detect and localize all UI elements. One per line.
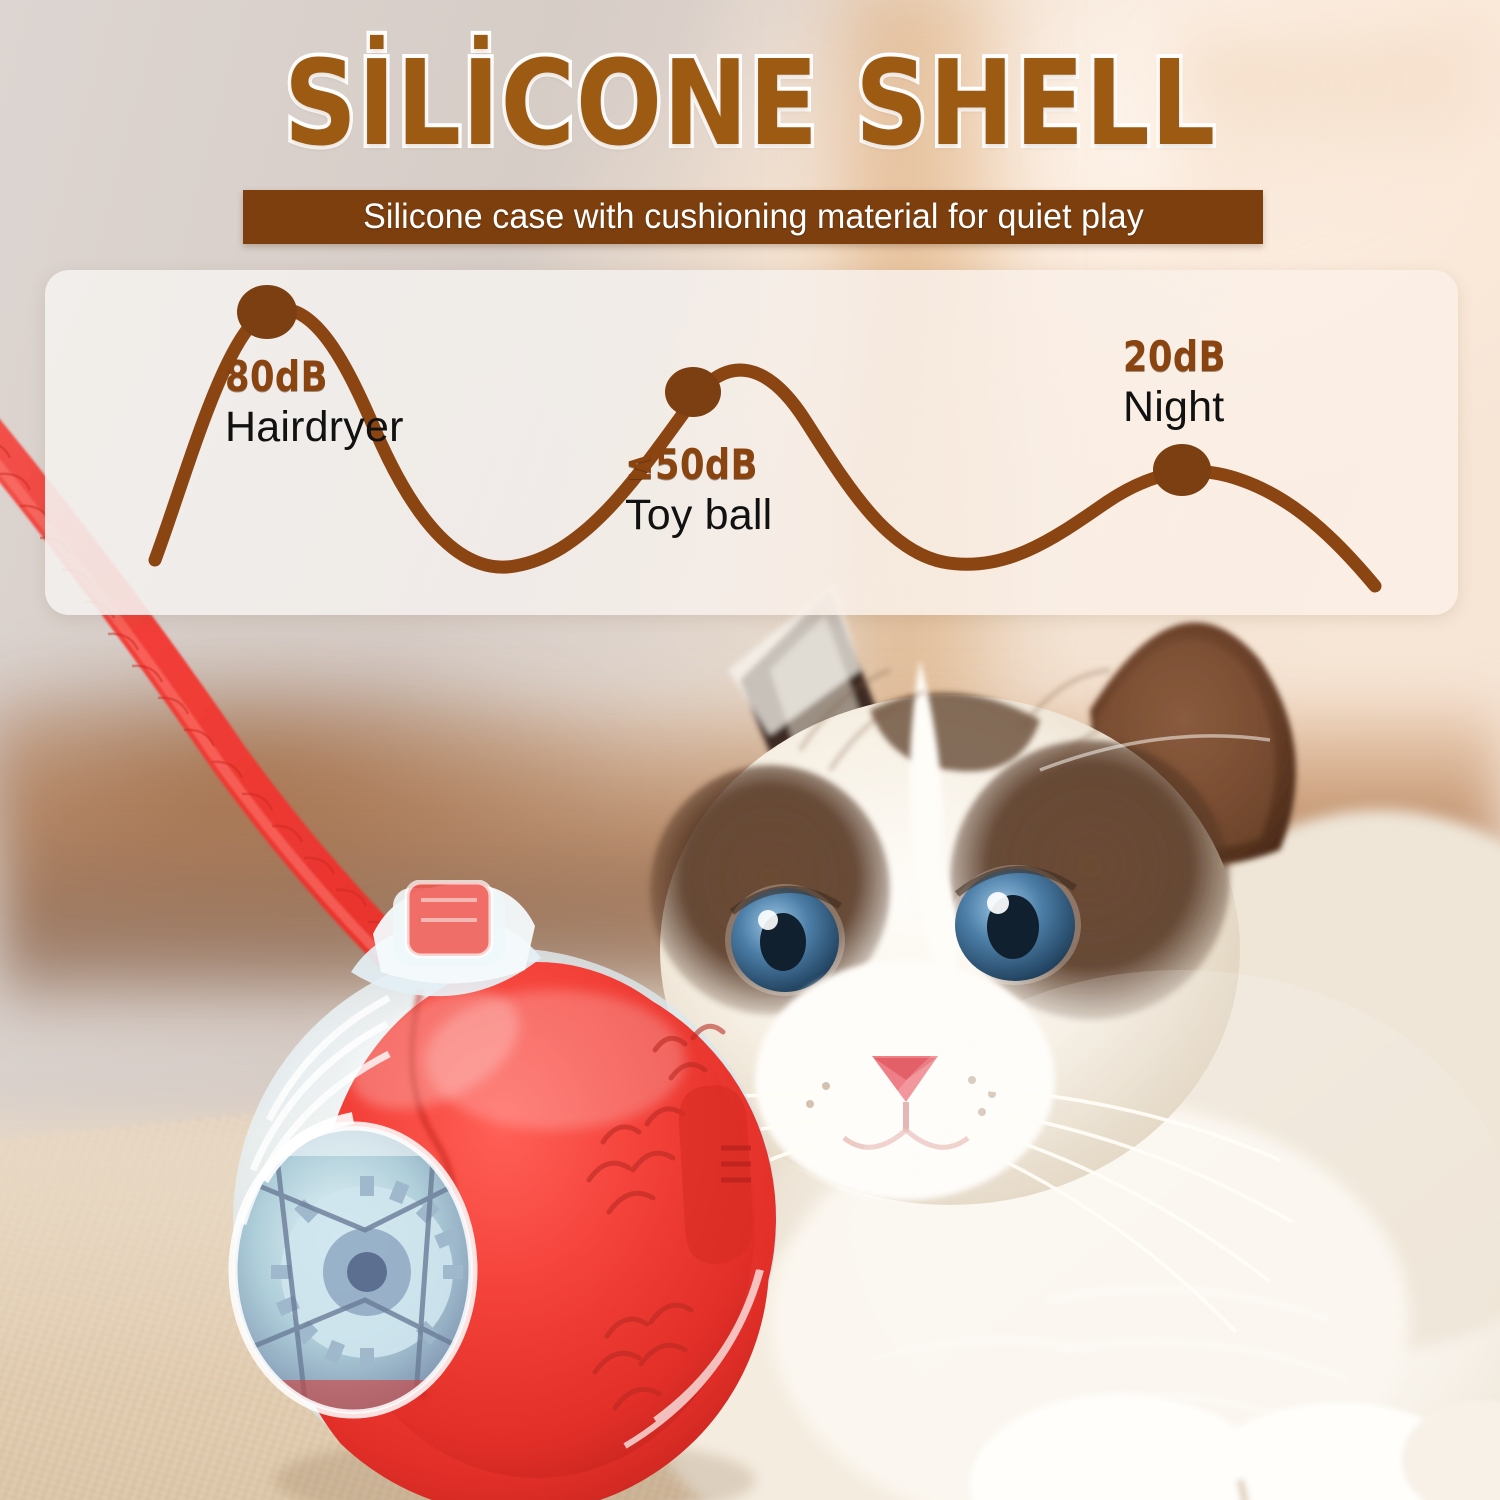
noise-name-night: Night — [1123, 383, 1246, 432]
subtitle-banner: Silicone case with cushioning material f… — [243, 190, 1263, 244]
noise-label-toyball: ≤50dB Toy ball — [625, 440, 783, 540]
marker-night — [1153, 444, 1211, 496]
noise-name-toyball: Toy ball — [625, 491, 783, 540]
noise-db-toyball: ≤50dB — [625, 440, 758, 489]
noise-name-hairdryer: Hairdryer — [225, 403, 404, 452]
noise-db-hairdryer: 80dB — [225, 352, 375, 401]
noise-label-hairdryer: 80dB Hairdryer — [225, 352, 404, 452]
page-title: SİLİCONE SHELL — [105, 44, 1395, 162]
noise-comparison-panel: 80dB Hairdryer ≤50dB Toy ball 20dB Night — [45, 270, 1458, 615]
marker-hairdryer — [237, 285, 297, 339]
noise-db-night: 20dB — [1123, 332, 1226, 381]
subtitle-text: Silicone case with cushioning material f… — [363, 197, 1144, 237]
noise-label-night: 20dB Night — [1123, 332, 1246, 432]
toy-ball-product — [185, 880, 825, 1500]
product-marketing-image: SİLİCONE SHELL Silicone case with cushio… — [0, 0, 1500, 1500]
marker-toyball — [665, 367, 721, 417]
